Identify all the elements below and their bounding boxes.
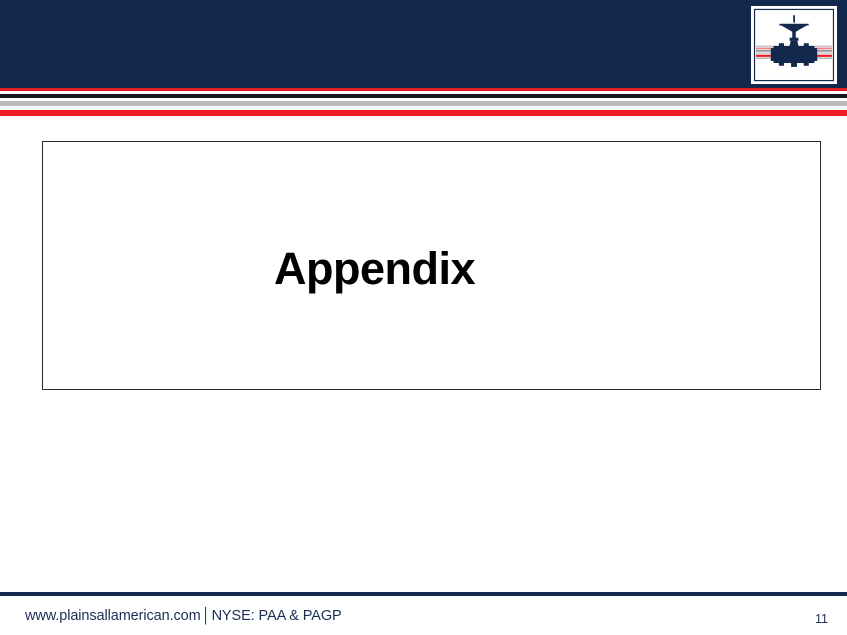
page-number: 11	[806, 612, 828, 626]
footer-text: www.plainsallamerican.com│NYSE: PAA & PA…	[25, 608, 342, 624]
page-title: Appendix	[274, 243, 475, 295]
header-band	[0, 0, 847, 88]
stripe-white-4	[0, 116, 847, 120]
footer-website[interactable]: www.plainsallamerican.com	[25, 608, 201, 624]
company-logo-plate	[751, 6, 837, 84]
footer-separator: │	[201, 608, 212, 624]
content-box: Appendix	[42, 141, 821, 390]
footer-divider	[0, 592, 847, 596]
pipeline-valve-logo-icon	[752, 7, 836, 83]
footer-ticker: NYSE: PAA & PAGP	[212, 608, 342, 624]
accent-stripe-band	[0, 88, 847, 120]
